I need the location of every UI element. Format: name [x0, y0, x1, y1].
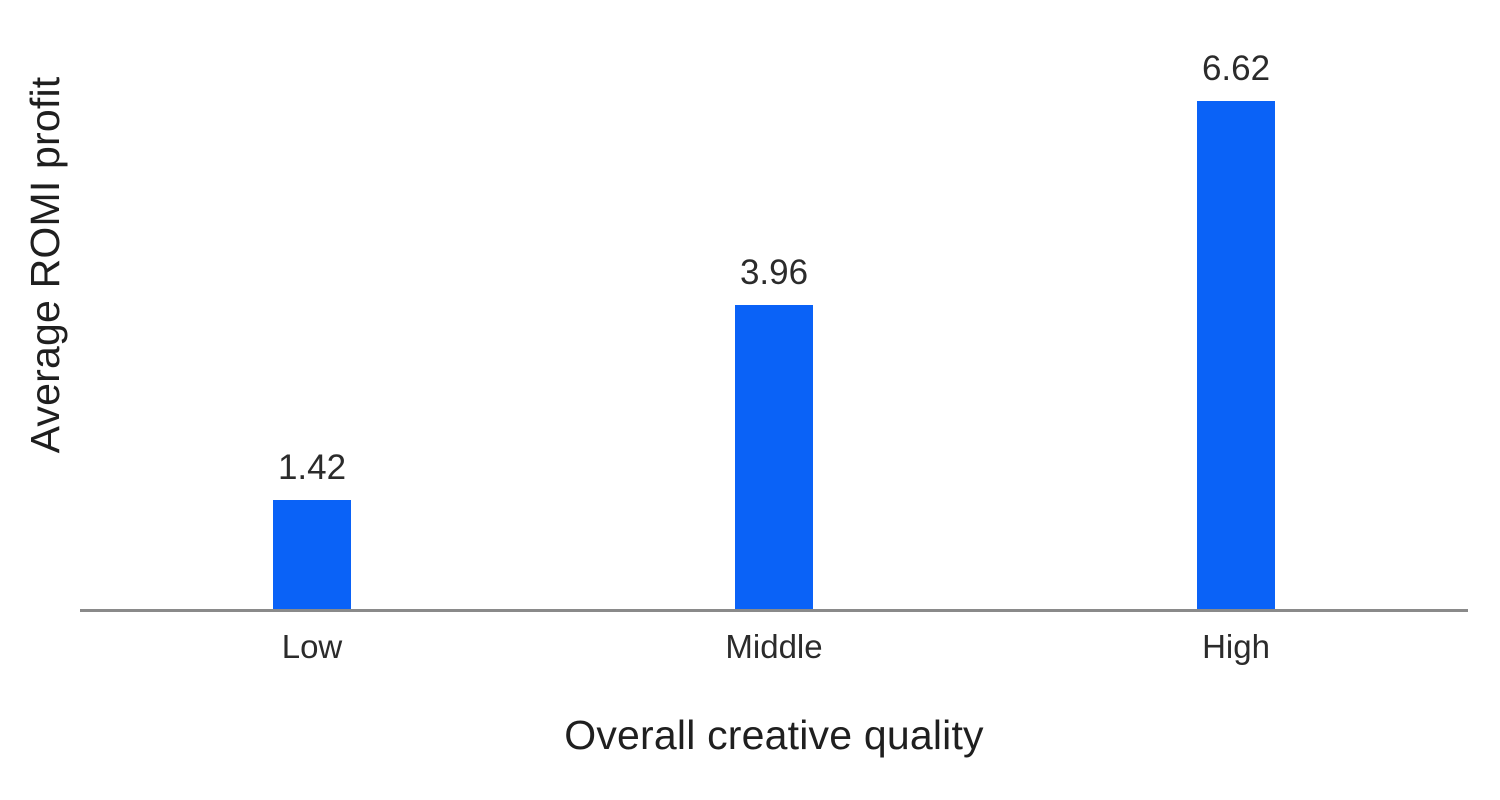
- x-tick-label-high: High: [1106, 628, 1366, 666]
- bar-chart: Average ROMI profit 1.42 3.96 6.62 Low M…: [0, 0, 1500, 800]
- bar-group-middle[interactable]: 3.96: [735, 305, 813, 609]
- bar-group-low[interactable]: 1.42: [273, 500, 351, 609]
- bar-value-label: 6.62: [1137, 49, 1335, 89]
- x-axis-tick-labels: Low Middle High: [80, 628, 1468, 688]
- bar-value-label: 1.42: [213, 448, 411, 488]
- bar-group-high[interactable]: 6.62: [1197, 101, 1275, 609]
- bar-rect[interactable]: [1197, 101, 1275, 609]
- bar-rect[interactable]: [273, 500, 351, 609]
- bar-value-label: 3.96: [675, 253, 873, 293]
- plot-area: 1.42 3.96 6.62: [80, 0, 1468, 612]
- x-tick-label-low: Low: [182, 628, 442, 666]
- bar-rect[interactable]: [735, 305, 813, 609]
- y-axis-title: Average ROMI profit: [0, 0, 90, 530]
- x-tick-label-middle: Middle: [644, 628, 904, 666]
- x-axis-title: Overall creative quality: [80, 712, 1468, 759]
- bars-layer: 1.42 3.96 6.62: [80, 0, 1468, 612]
